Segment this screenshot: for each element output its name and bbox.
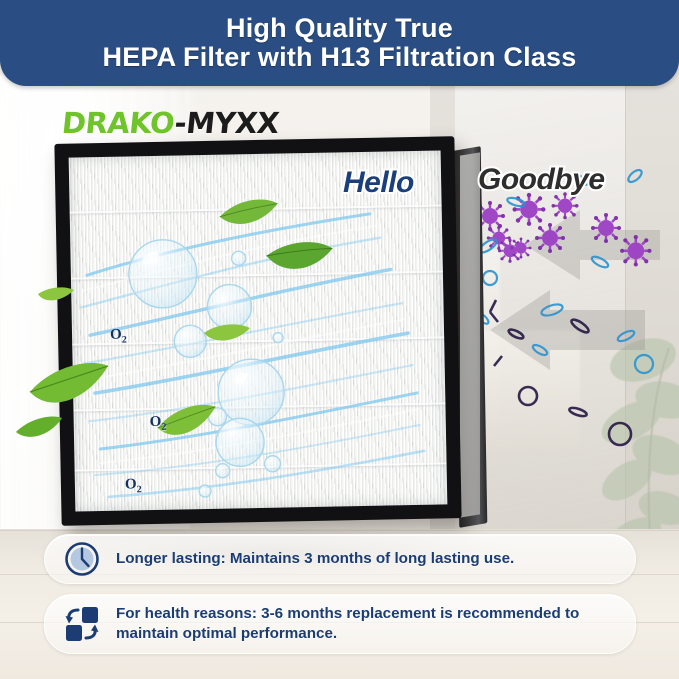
clock-icon [61,538,103,580]
benefit-item-2: For health reasons: 3-6 months replaceme… [44,594,636,654]
goodbye-label: Goodbye [478,163,605,197]
header-banner: High Quality True HEPA Filter with H13 F… [0,0,679,86]
benefit-text-2: For health reasons: 3-6 months replaceme… [116,604,619,644]
benefit-item-1: Longer lasting: Maintains 3 months of lo… [44,534,636,584]
brand-logo-part1: DRAKO [60,106,176,140]
header-line-1: High Quality True [226,14,453,43]
o2-label-3: O2 [125,476,142,495]
o2-label-2: O2 [150,414,167,433]
hepa-filter-product: O2 O2 O2 [58,140,478,540]
brand-logo-part2: MYXX [184,106,280,140]
benefit-text-1: Longer lasting: Maintains 3 months of lo… [116,549,514,569]
header-line-2: HEPA Filter with H13 Filtration Class [103,43,577,72]
hello-label: Hello [343,166,414,200]
product-infographic: O2 O2 O2 High Quality True HEPA Filter w… [0,0,679,679]
filter-side-face [460,152,480,517]
filter-pleated-media: O2 O2 O2 [69,150,448,511]
floating-leaves-left [8,280,118,470]
replacement-swap-icon [61,603,103,645]
brand-logo: DRAKO-MYXX [60,106,280,140]
